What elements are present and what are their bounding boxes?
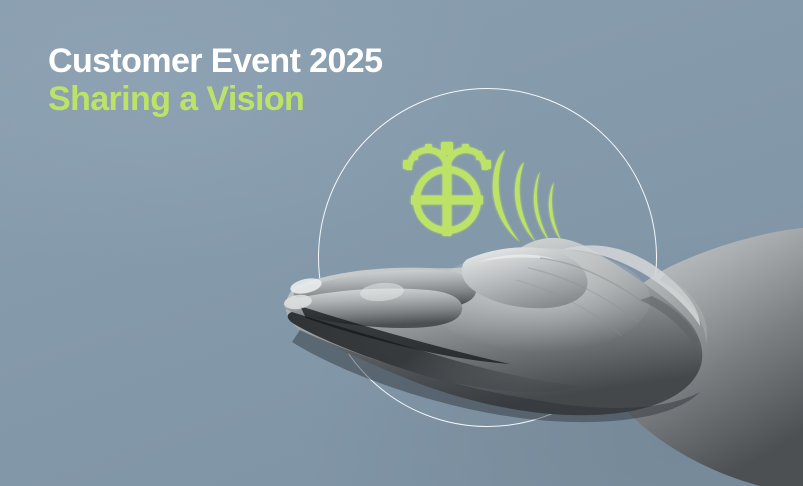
crowned-circle-waves-logo xyxy=(398,142,573,252)
event-banner-slide: Customer Event 2025 Sharing a Vision xyxy=(0,0,803,486)
title-line-primary: Customer Event 2025 xyxy=(48,42,382,80)
crossed-circle-icon xyxy=(411,164,483,236)
page-title: Customer Event 2025 Sharing a Vision xyxy=(48,42,382,118)
wave-arcs-icon xyxy=(493,150,562,242)
title-line-secondary: Sharing a Vision xyxy=(48,80,382,118)
decorative-circle-outline xyxy=(318,88,657,427)
